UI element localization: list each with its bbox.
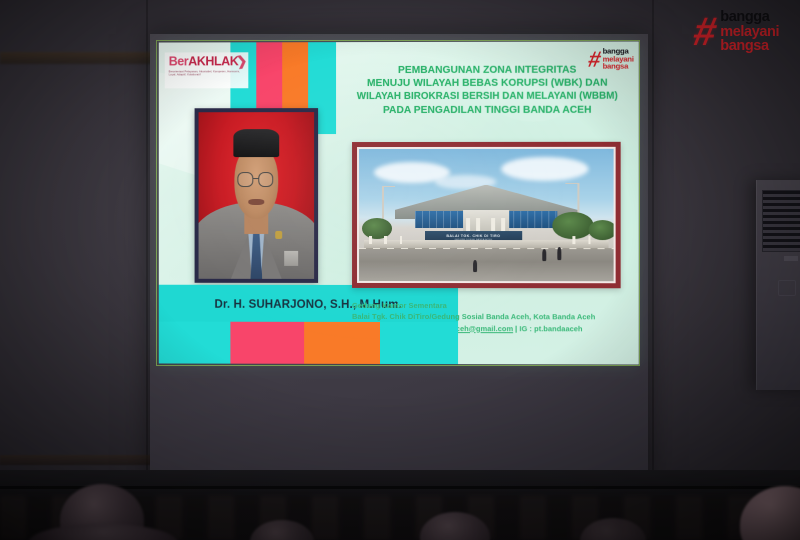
berakhlak-part2: AKHLAK <box>188 54 238 68</box>
color-bar-cyan <box>159 322 231 364</box>
portrait-glasses-left <box>238 172 253 187</box>
wall-seam-right <box>652 0 654 540</box>
chevron-right-icon: ❯ <box>235 53 248 70</box>
color-bar-orange <box>304 322 380 364</box>
building-photo: BALAI TGK. CHIK DI TIRO GEDUNG SOSIAL BA… <box>357 147 616 283</box>
slide-title-line-4: PADA PENGADILAN TINGGI BANDA ACEH <box>344 104 631 118</box>
wall-logo-text: bangga melayani bangsa <box>720 10 779 54</box>
building-photo-frame: BALAI TGK. CHIK DI TIRO GEDUNG SOSIAL BA… <box>352 142 621 288</box>
fence-post <box>588 236 591 244</box>
presentation-slide: BerAKHLAK Berorientasi Pelayanan, Akunta… <box>159 41 639 364</box>
portrait-frame <box>195 108 319 283</box>
wall-trim-lower <box>0 455 170 465</box>
fence-post <box>384 236 387 244</box>
bangga-melayani-bangsa-wall-logo: # bangga melayani bangsa <box>692 8 792 56</box>
contact-instagram: | IG : pt.bandaaceh <box>513 324 582 333</box>
slide-title-line-2: MENUJU WILAYAH BEBAS KORUPSI (WBK) DAN <box>344 77 631 91</box>
air-conditioner-grille-icon <box>762 190 800 252</box>
air-conditioner-badge <box>784 256 798 261</box>
building-sign-line1: BALAI TGK. CHIK DI TIRO <box>446 234 500 238</box>
tree-shape <box>362 218 392 239</box>
horizontal-color-bars <box>159 322 458 365</box>
berakhlak-part1: Ber <box>169 54 189 68</box>
slide-title-line-3: WILAYAH BIROKRASI BERSIH DAN MELAYANI (W… <box>344 91 631 104</box>
portrait-glasses-bridge <box>253 178 259 179</box>
hash-icon: # <box>690 12 718 52</box>
portrait-pocket-square <box>284 251 298 266</box>
berakhlak-logo-title: BerAKHLAK <box>169 55 245 68</box>
portrait-lapel-pin <box>275 231 282 239</box>
contact-line-1: Gedung Kantor Sementara <box>352 300 633 312</box>
street-lamp-arm <box>382 186 395 187</box>
cloud-shape <box>501 157 588 181</box>
wall-trim-upper <box>0 52 160 64</box>
berakhlak-logo-subtitle: Berorientasi Pelayanan, Akuntabel, Kompe… <box>169 70 245 78</box>
fence-post <box>573 236 576 244</box>
portrait-glasses-right <box>259 172 274 187</box>
pedestrian-silhouette <box>557 247 561 260</box>
slide-title-line-1: PEMBANGUNAN ZONA INTEGRITAS <box>344 64 631 78</box>
tree-shape <box>588 220 616 240</box>
portrait-peci-cap <box>233 129 279 157</box>
color-bar-cyan-2 <box>380 322 458 364</box>
portrait-photo <box>199 112 315 279</box>
portrait-mouth <box>248 199 264 205</box>
fence-post <box>400 236 403 244</box>
wall-logo-line2: melayani <box>720 25 779 40</box>
wall-logo-line1: bangga <box>720 10 779 25</box>
air-conditioner-vent <box>778 280 796 296</box>
tree-shape <box>552 212 593 238</box>
conference-room: # bangga melayani bangsa FOCUS BerAKHLAK <box>0 0 800 540</box>
road-surface <box>359 249 614 281</box>
wall-logo-line3: bangsa <box>720 39 779 54</box>
fence-post <box>369 236 372 244</box>
berakhlak-logo: BerAKHLAK Berorientasi Pelayanan, Akunta… <box>165 52 249 88</box>
pedestrian-silhouette <box>473 260 477 272</box>
slide-title: PEMBANGUNAN ZONA INTEGRITAS MENUJU WILAY… <box>344 64 631 118</box>
pedestrian-silhouette <box>542 249 546 261</box>
color-bar-pink <box>230 322 304 364</box>
